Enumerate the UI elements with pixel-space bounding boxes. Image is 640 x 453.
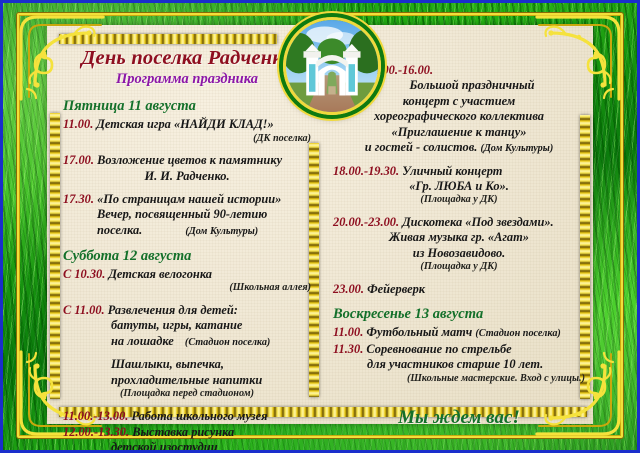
- event-time: 18.00.-19.30.: [333, 164, 399, 178]
- event-desc: «По страницам нашей истории»: [97, 192, 281, 206]
- event-time: С 10.30.: [63, 267, 105, 281]
- event-desc-line3: поселка.: [97, 223, 142, 237]
- event-desc: Возложение цветов к памятнику: [97, 153, 282, 167]
- event-desc-line2: «Гр. ЛЮБА и Ко».: [333, 179, 585, 194]
- event-desc: Работа школьного музея: [132, 409, 268, 423]
- event-desc-line2: Живая музыка гр. «Агат»: [333, 230, 585, 245]
- event-item: 20.00.-23.00. Дискотека «Под звездами». …: [333, 215, 585, 274]
- event-desc: Детская велогонка: [108, 267, 212, 281]
- event-desc-line2: И. И. Радченко.: [63, 169, 311, 184]
- event-place: (Школьные мастерские. Вход с улицы.): [333, 373, 585, 386]
- day-header-saturday: Суббота 12 августа: [63, 248, 311, 265]
- day-header-friday: Пятница 11 августа: [63, 98, 311, 115]
- event-item: 11.30. Соревнование по стрельбе для учас…: [333, 342, 585, 385]
- event-item: 11.00. Футбольный матч (Стадион поселка): [333, 325, 585, 341]
- event-desc: Футбольный матч: [366, 325, 472, 339]
- event-time: 23.00.: [333, 282, 364, 296]
- bead-chain-left: [50, 113, 60, 399]
- event-desc-line5: и гостей - солистов.: [365, 140, 478, 154]
- page-subtitle: Программа праздника: [63, 71, 311, 88]
- festival-poster: День поселка Радченко Программа праздник…: [0, 0, 640, 453]
- event-time: 11.00.-13.00.: [63, 409, 128, 423]
- event-time: 20.00.-23.00.: [333, 215, 399, 229]
- event-desc: Детская игра «НАЙДИ КЛАД!»: [96, 117, 273, 131]
- event-place: (ДК поселка): [63, 133, 311, 146]
- event-item: С 10.30. Детская велогонка (Школьная алл…: [63, 267, 311, 295]
- event-place: (Школьная аллея): [63, 282, 311, 295]
- event-time: 12.00.-13.30.: [63, 425, 129, 439]
- event-place: (Площадка перед стадионом): [63, 388, 311, 401]
- event-desc-line2: детской изостудии: [63, 440, 311, 453]
- page-title: День поселка Радченко: [63, 47, 311, 70]
- event-desc-line4: «Приглашение к танцу»: [333, 125, 585, 140]
- day-header-sunday: Воскресенье 13 августа: [333, 306, 585, 323]
- event-item: 11.00. Детская игра «НАЙДИ КЛАД!» (ДК по…: [63, 117, 311, 145]
- village-gate-photo-medallion: [283, 17, 381, 115]
- event-item: 11.00.-13.00. Работа школьного музея: [63, 409, 311, 424]
- event-time: 17.30.: [63, 192, 94, 206]
- event-time: С 11.00.: [63, 303, 105, 317]
- event-desc-line2: батуты, игры, катание: [63, 318, 311, 333]
- event-time: 11.30.: [333, 342, 363, 356]
- event-desc: Дискотека «Под звездами».: [402, 215, 553, 229]
- event-time: 11.00.: [63, 117, 93, 131]
- event-item: 17.00. Возложение цветов к памятнику И. …: [63, 153, 311, 184]
- event-item: Шашлыки, выпечка, прохладительные напитк…: [63, 357, 311, 400]
- right-column: 14.00.-16.00. Большой праздничный концер…: [333, 63, 585, 429]
- event-desc-line2: концерт с участием: [333, 94, 585, 109]
- event-desc-line3: на лошадке: [111, 334, 174, 348]
- left-column: День поселка Радченко Программа праздник…: [63, 47, 311, 453]
- event-place: (Площадка у ДК): [333, 194, 585, 207]
- event-desc-line2: Вечер, посвященный 90-летию: [63, 207, 311, 222]
- event-desc: Выставка рисунка: [132, 425, 234, 439]
- event-place: (Дом Культуры): [480, 143, 553, 154]
- event-place: (Дом Культуры): [145, 226, 258, 237]
- event-desc-line3: из Новозавидово.: [333, 246, 585, 261]
- event-desc: Шашлыки, выпечка,: [63, 357, 311, 372]
- event-place: (Площадка у ДК): [333, 261, 585, 274]
- event-item: 17.30. «По страницам нашей истории» Вече…: [63, 192, 311, 238]
- event-desc: Развлечения для детей:: [108, 303, 238, 317]
- event-item: 12.00.-13.30. Выставка рисунка детской и…: [63, 425, 311, 453]
- event-desc: Уличный концерт: [402, 164, 502, 178]
- closing-message: Мы ждем вас!: [333, 407, 585, 429]
- event-item: С 11.00. Развлечения для детей: батуты, …: [63, 303, 311, 349]
- event-desc-line2: прохладительные напитки: [63, 373, 311, 388]
- event-item: 23.00. Фейерверк: [333, 282, 585, 297]
- event-place: (Стадион поселка): [177, 337, 270, 348]
- event-time: 11.00.: [333, 325, 363, 339]
- event-place: (Стадион поселка): [475, 328, 560, 339]
- event-desc: Фейерверк: [367, 282, 425, 296]
- event-desc-line2: для участников старше 10 лет.: [333, 357, 585, 372]
- bead-chain-top: [59, 34, 277, 44]
- event-time: 17.00.: [63, 153, 94, 167]
- event-item: 18.00.-19.30. Уличный концерт «Гр. ЛЮБА …: [333, 164, 585, 207]
- event-desc: Соревнование по стрельбе: [366, 342, 511, 356]
- event-desc-line3: хореографического коллектива: [333, 109, 585, 124]
